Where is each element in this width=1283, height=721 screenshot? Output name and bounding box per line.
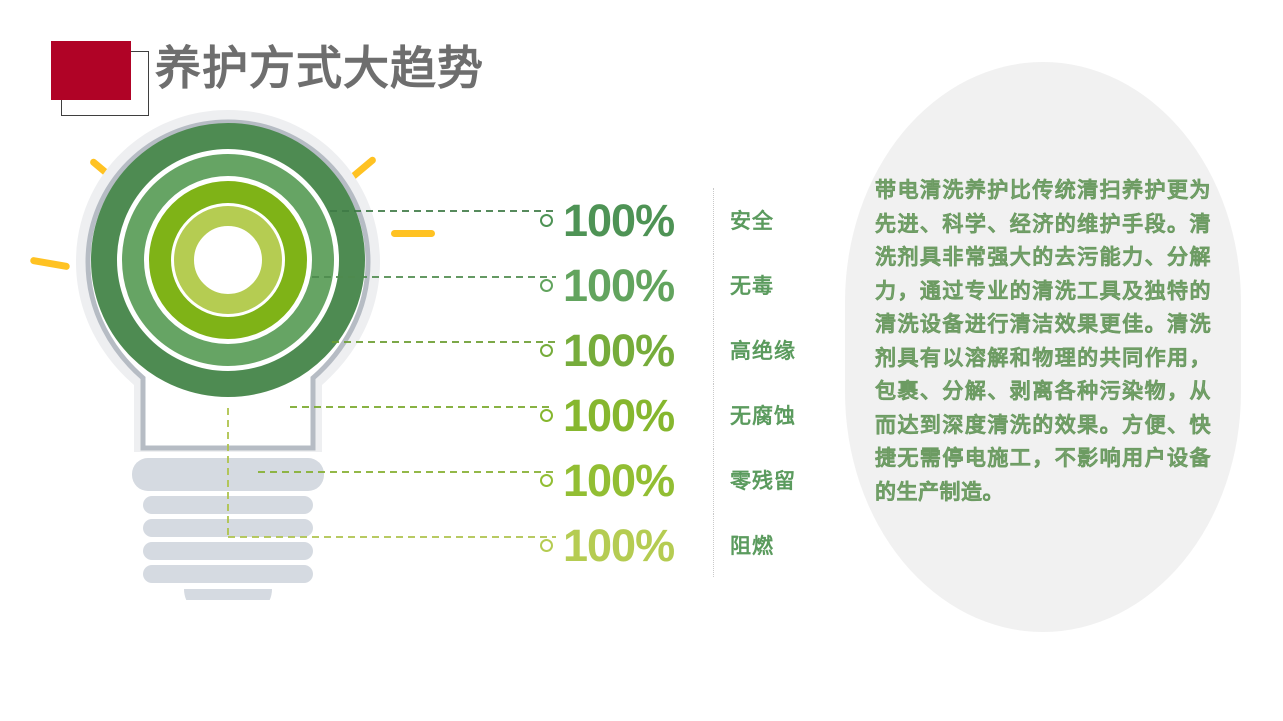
stat-divider (713, 253, 714, 317)
stat-label: 安全 (730, 205, 774, 235)
stat-value: 100% (563, 393, 709, 438)
stat-marker-icon (540, 409, 553, 422)
stat-row[interactable]: 100% 无毒 (540, 252, 774, 318)
info-paragraph: 带电清洗养护比传统清扫养护更为先进、科学、经济的维护手段。清洗剂具非常强大的去污… (875, 174, 1211, 509)
title-accent-square (51, 41, 131, 100)
stat-label: 无毒 (730, 270, 774, 300)
stat-marker-icon (540, 344, 553, 357)
stat-label: 高绝缘 (730, 335, 796, 365)
stat-value: 100% (563, 263, 709, 308)
stat-row[interactable]: 100% 安全 (540, 187, 774, 253)
stat-row[interactable]: 100% 高绝缘 (540, 317, 796, 383)
stat-marker-icon (540, 279, 553, 292)
page-title: 养护方式大趋势 (155, 40, 484, 96)
stat-value: 100% (563, 523, 709, 568)
info-panel: 带电清洗养护比传统清扫养护更为先进、科学、经济的维护手段。清洗剂具非常强大的去污… (845, 62, 1241, 632)
stat-value: 100% (563, 328, 709, 373)
stat-divider (713, 383, 714, 447)
stat-label: 阻燃 (730, 530, 774, 560)
stat-row[interactable]: 100% 阻燃 (540, 512, 774, 578)
stat-divider (713, 448, 714, 512)
stat-marker-icon (540, 474, 553, 487)
stats-list: 100% 安全 100% 无毒 100% 高绝缘 100% 无腐蚀 100% 零… (540, 175, 830, 575)
stat-marker-icon (540, 214, 553, 227)
stat-divider (713, 188, 714, 252)
stat-row[interactable]: 100% 无腐蚀 (540, 382, 796, 448)
stat-divider (713, 513, 714, 577)
stat-marker-icon (540, 539, 553, 552)
stat-label: 零残留 (730, 465, 796, 495)
stat-row[interactable]: 100% 零残留 (540, 447, 796, 513)
stat-label: 无腐蚀 (730, 400, 796, 430)
stat-value: 100% (563, 458, 709, 503)
stat-divider (713, 318, 714, 382)
light-bulb-target-graphic (60, 100, 420, 600)
stat-value: 100% (563, 198, 709, 243)
